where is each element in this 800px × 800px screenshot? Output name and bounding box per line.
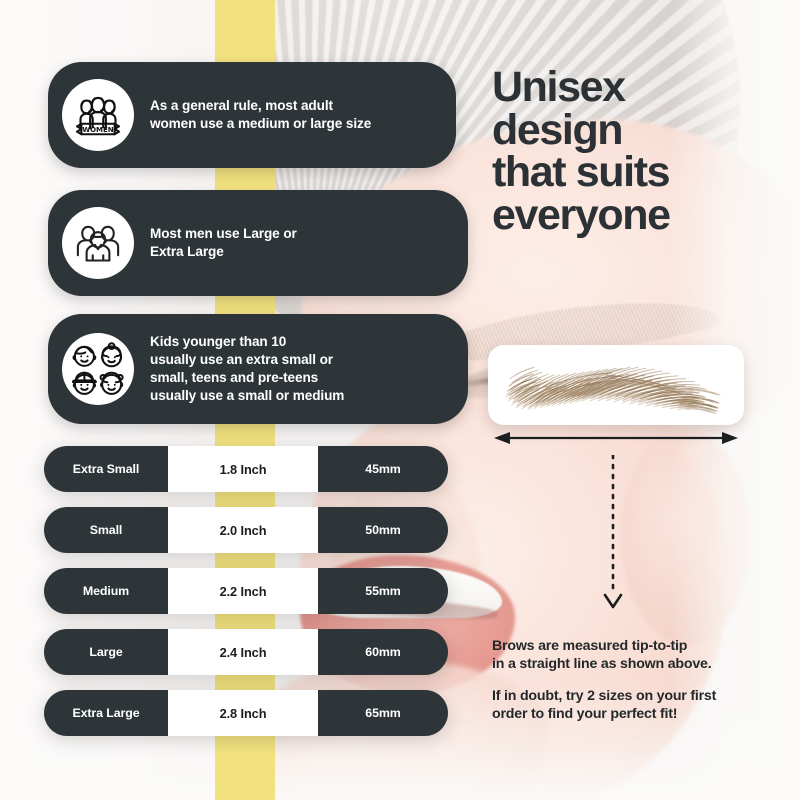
size-mm-label: 50mm [365,523,400,537]
table-row: Small 2.0 Inch 50mm [44,507,448,553]
measurement-note: Brows are measured tip-to-tip in a strai… [492,638,772,674]
info-card-women: WOMEN As a general rule, most adult wome… [48,62,456,168]
size-inch-label: 1.8 Inch [220,462,267,477]
dashed-down-arrow [600,455,626,615]
table-row: Extra Large 2.8 Inch 65mm [44,690,448,736]
size-name-label: Extra Large [72,706,139,720]
size-inch-label: 2.0 Inch [220,523,267,538]
size-name-label: Extra Small [73,462,139,476]
page-title: Unisex design that suits everyone [492,66,792,236]
size-inch-label: 2.4 Inch [220,645,267,660]
size-mm-label: 45mm [365,462,400,476]
four-kids-faces-icon [62,333,134,405]
double-headed-horizontal-arrow [494,430,738,446]
info-card-women-text: As a general rule, most adult women use … [150,97,371,133]
info-card-kids: Kids younger than 10 usually use an extr… [48,314,468,424]
size-name-cell: Large [44,629,168,675]
three-women-group-icon: WOMEN [62,79,134,151]
size-name-cell: Small [44,507,168,553]
table-row: Large 2.4 Inch 60mm [44,629,448,675]
size-inch-label: 2.2 Inch [220,584,267,599]
info-card-men-text: Most men use Large or Extra Large [150,225,297,261]
info-card-kids-text: Kids younger than 10 usually use an extr… [150,333,344,405]
sizing-advice-note: If in doubt, try 2 sizes on your first o… [492,688,782,724]
size-mm-cell: 60mm [318,629,448,675]
size-mm-cell: 65mm [318,690,448,736]
info-card-men: Most men use Large or Extra Large [48,190,468,296]
size-name-cell: Extra Large [44,690,168,736]
size-name-cell: Extra Small [44,446,168,492]
table-row: Medium 2.2 Inch 55mm [44,568,448,614]
size-mm-label: 65mm [365,706,400,720]
size-inch-cell: 2.4 Inch [168,629,318,675]
size-name-label: Large [89,645,122,659]
size-inch-cell: 2.8 Inch [168,690,318,736]
eyebrow-product-image [488,345,744,425]
size-mm-label: 60mm [365,645,400,659]
size-inch-label: 2.8 Inch [220,706,267,721]
size-mm-label: 55mm [365,584,400,598]
size-name-label: Medium [83,584,129,598]
size-inch-cell: 2.0 Inch [168,507,318,553]
eyebrow-product-panel [488,345,744,425]
size-name-cell: Medium [44,568,168,614]
size-inch-cell: 1.8 Inch [168,446,318,492]
size-mm-cell: 45mm [318,446,448,492]
size-name-label: Small [90,523,123,537]
size-mm-cell: 50mm [318,507,448,553]
size-inch-cell: 2.2 Inch [168,568,318,614]
three-men-group-icon [62,207,134,279]
table-row: Extra Small 1.8 Inch 45mm [44,446,448,492]
size-mm-cell: 55mm [318,568,448,614]
women-banner-label: WOMEN [82,126,113,134]
